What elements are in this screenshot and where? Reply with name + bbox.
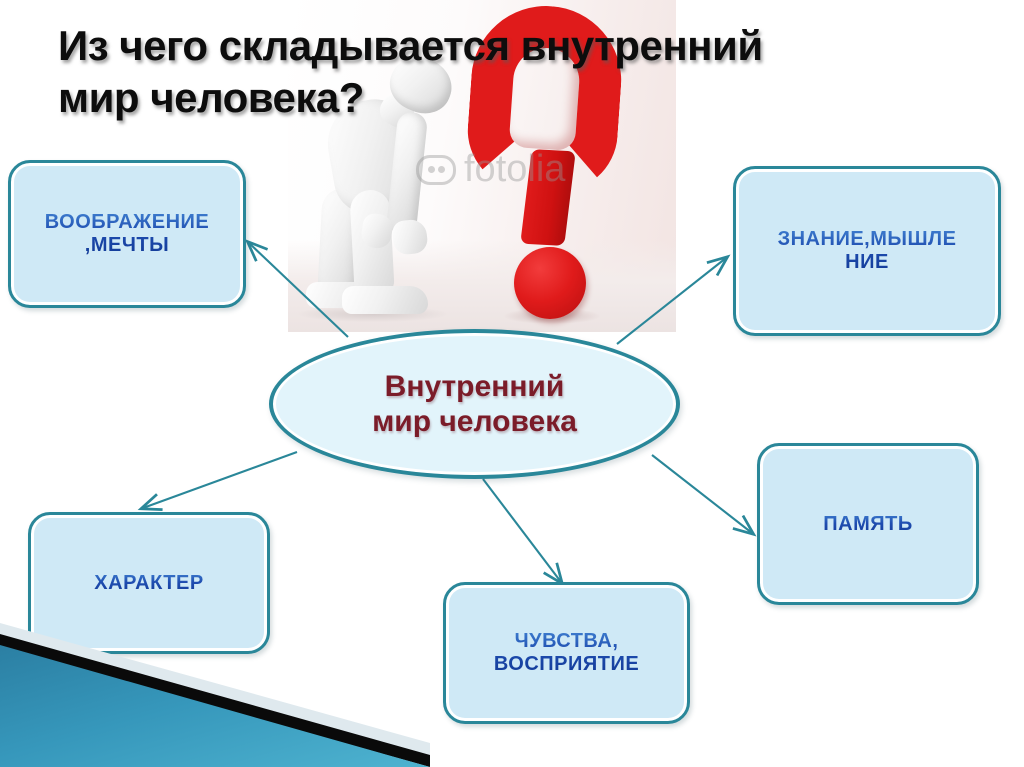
corner-teal-shape [0, 645, 430, 767]
figure-foot-front [342, 286, 428, 314]
node-character-reflection: ХАРАКТЕР [94, 583, 203, 595]
arrow-to-memory [652, 455, 752, 533]
illustration-question-mark [288, 0, 676, 332]
node-memory-reflection: ПАМЯТЬ [823, 524, 912, 536]
node-feelings-reflection: ЧУВСТВА, ВОСПРИЯТИЕ [494, 653, 639, 676]
arrow-to-character [143, 452, 297, 508]
center-node-label: Внутренний мир человека [372, 369, 577, 440]
node-imagination-label: ВООБРАЖЕНИЕ ,МЕЧТЫВООБРАЖЕНИЕ ,МЕЧТЫ [45, 211, 210, 257]
node-imagination[interactable]: ВООБРАЖЕНИЕ ,МЕЧТЫВООБРАЖЕНИЕ ,МЕЧТЫ [8, 160, 246, 308]
node-imagination-reflection: ВООБРАЖЕНИЕ ,МЕЧТЫ [45, 234, 210, 257]
node-knowledge-label: ЗНАНИЕ,МЫШЛЕ НИЕЗНАНИЕ,МЫШЛЕ НИЕ [778, 228, 957, 274]
node-feelings-label: ЧУВСТВА, ВОСПРИЯТИЕЧУВСТВА, ВОСПРИЯТИЕ [494, 630, 639, 676]
arrow-to-feelings [483, 479, 561, 582]
node-character-label: ХАРАКТЕРХАРАКТЕР [94, 572, 203, 595]
3d-person-figure [296, 38, 526, 328]
slide-canvas: Из чего складывается внутренний мир чело… [0, 0, 1024, 767]
figure-hand-right [391, 218, 428, 255]
node-character[interactable]: ХАРАКТЕРХАРАКТЕР [28, 512, 270, 654]
node-knowledge[interactable]: ЗНАНИЕ,МЫШЛЕ НИЕЗНАНИЕ,МЫШЛЕ НИЕ [733, 166, 1001, 336]
node-knowledge-reflection: ЗНАНИЕ,МЫШЛЕ НИЕ [778, 251, 957, 274]
node-memory[interactable]: ПАМЯТЬПАМЯТЬ [757, 443, 979, 605]
node-feelings[interactable]: ЧУВСТВА, ВОСПРИЯТИЕЧУВСТВА, ВОСПРИЯТИЕ [443, 582, 690, 724]
center-node-inner-world[interactable]: Внутренний мир человека [269, 329, 680, 479]
node-memory-label: ПАМЯТЬПАМЯТЬ [823, 513, 912, 536]
